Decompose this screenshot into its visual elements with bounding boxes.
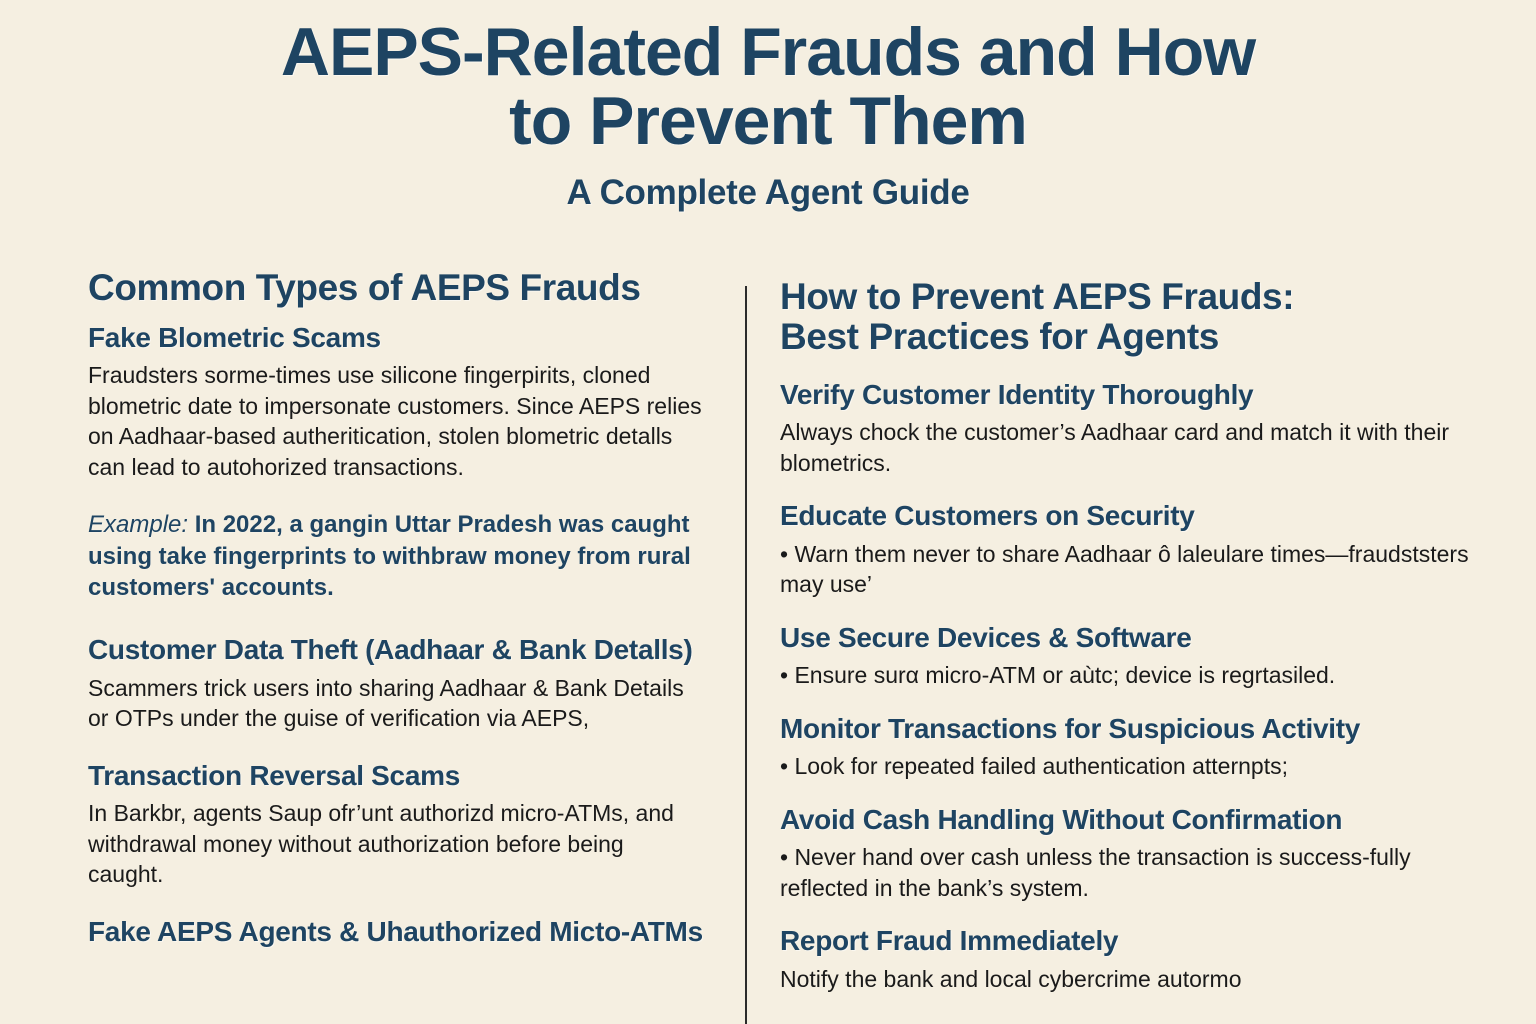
example-callout: Example: In 2022, a gangin Uttar Pradesh… [88,509,705,605]
section-body: • Warn them never to share Aadhaar ô lal… [780,539,1496,600]
left-column: Common Types of AEPS Frauds Fake Blometr… [0,268,745,1024]
section-body: • Never hand over cash unless the transa… [780,842,1496,903]
section-heading: Verify Customer Identity Thoroughly [780,379,1496,410]
page-title: AEPS-Related Frauds and How to Prevent T… [148,18,1388,157]
section-fake-biometric-scams: Fake Blometric Scams Fraudsters sorme-ti… [88,322,705,483]
section-transaction-reversal-scams: Transaction Reversal Scams In Barkbr, ag… [88,760,705,890]
section-educate-customers: Educate Customers on Security • Warn the… [780,500,1496,600]
section-body: Always chock the customer’s Aadhaar card… [780,417,1496,478]
left-column-heading: Common Types of AEPS Frauds [88,268,705,308]
page-title-line-1: AEPS-Related Frauds and How [281,14,1255,90]
section-body: In Barkbr, agents Saup ofr’unt authorizd… [88,798,705,890]
example-label: Example: [88,511,188,538]
section-heading: Avoid Cash Handling Without Confirmation [780,804,1496,835]
section-verify-customer-identity: Verify Customer Identity Thoroughly Alwa… [780,379,1496,479]
section-fake-agents-unauthorized-micro-atms: Fake AEPS Agents & Uhauthorized Micto-AT… [88,916,705,947]
page-header: AEPS-Related Frauds and How to Prevent T… [0,0,1536,213]
section-customer-data-theft: Customer Data Theft (Aadhaar & Bank Deta… [88,634,705,734]
section-monitor-transactions: Monitor Transactions for Suspicious Acti… [780,713,1496,782]
section-heading: Fake AEPS Agents & Uhauthorized Micto-AT… [88,916,705,947]
section-body: • Look for repeated failed authenticatio… [780,751,1496,782]
section-heading: Monitor Transactions for Suspicious Acti… [780,713,1496,744]
section-use-secure-devices: Use Secure Devices & Software • Ensure s… [780,622,1496,691]
section-heading: Use Secure Devices & Software [780,622,1496,653]
section-avoid-cash-handling: Avoid Cash Handling Without Confirmation… [780,804,1496,904]
section-body: Scammers trick users into sharing Aadhaa… [88,673,705,734]
right-column-heading: How to Prevent AEPS Frauds: Best Practic… [780,277,1496,357]
section-heading: Fake Blometric Scams [88,322,705,353]
section-heading: Report Fraud Immediately [780,925,1496,956]
section-body: Notify the bank and local cybercrime aut… [780,964,1496,995]
right-column-heading-line-1: How to Prevent AEPS Frauds: [780,276,1294,317]
section-heading: Transaction Reversal Scams [88,760,705,791]
section-heading: Educate Customers on Security [780,500,1496,531]
section-body: Fraudsters sorme-times use silicone fing… [88,360,705,482]
section-heading: Customer Data Theft (Aadhaar & Bank Deta… [88,634,705,665]
right-column: How to Prevent AEPS Frauds: Best Practic… [745,268,1536,1024]
column-divider [745,286,747,1024]
right-column-heading-line-2: Best Practices for Agents [780,316,1219,357]
page-subtitle: A Complete Agent Guide [0,173,1536,213]
section-report-fraud: Report Fraud Immediately Notify the bank… [780,925,1496,994]
section-body: • Ensure surα micro-ATM or aùtc; device … [780,660,1496,691]
page-title-line-2: to Prevent Them [509,83,1027,159]
content-columns: Common Types of AEPS Frauds Fake Blometr… [0,268,1536,1024]
